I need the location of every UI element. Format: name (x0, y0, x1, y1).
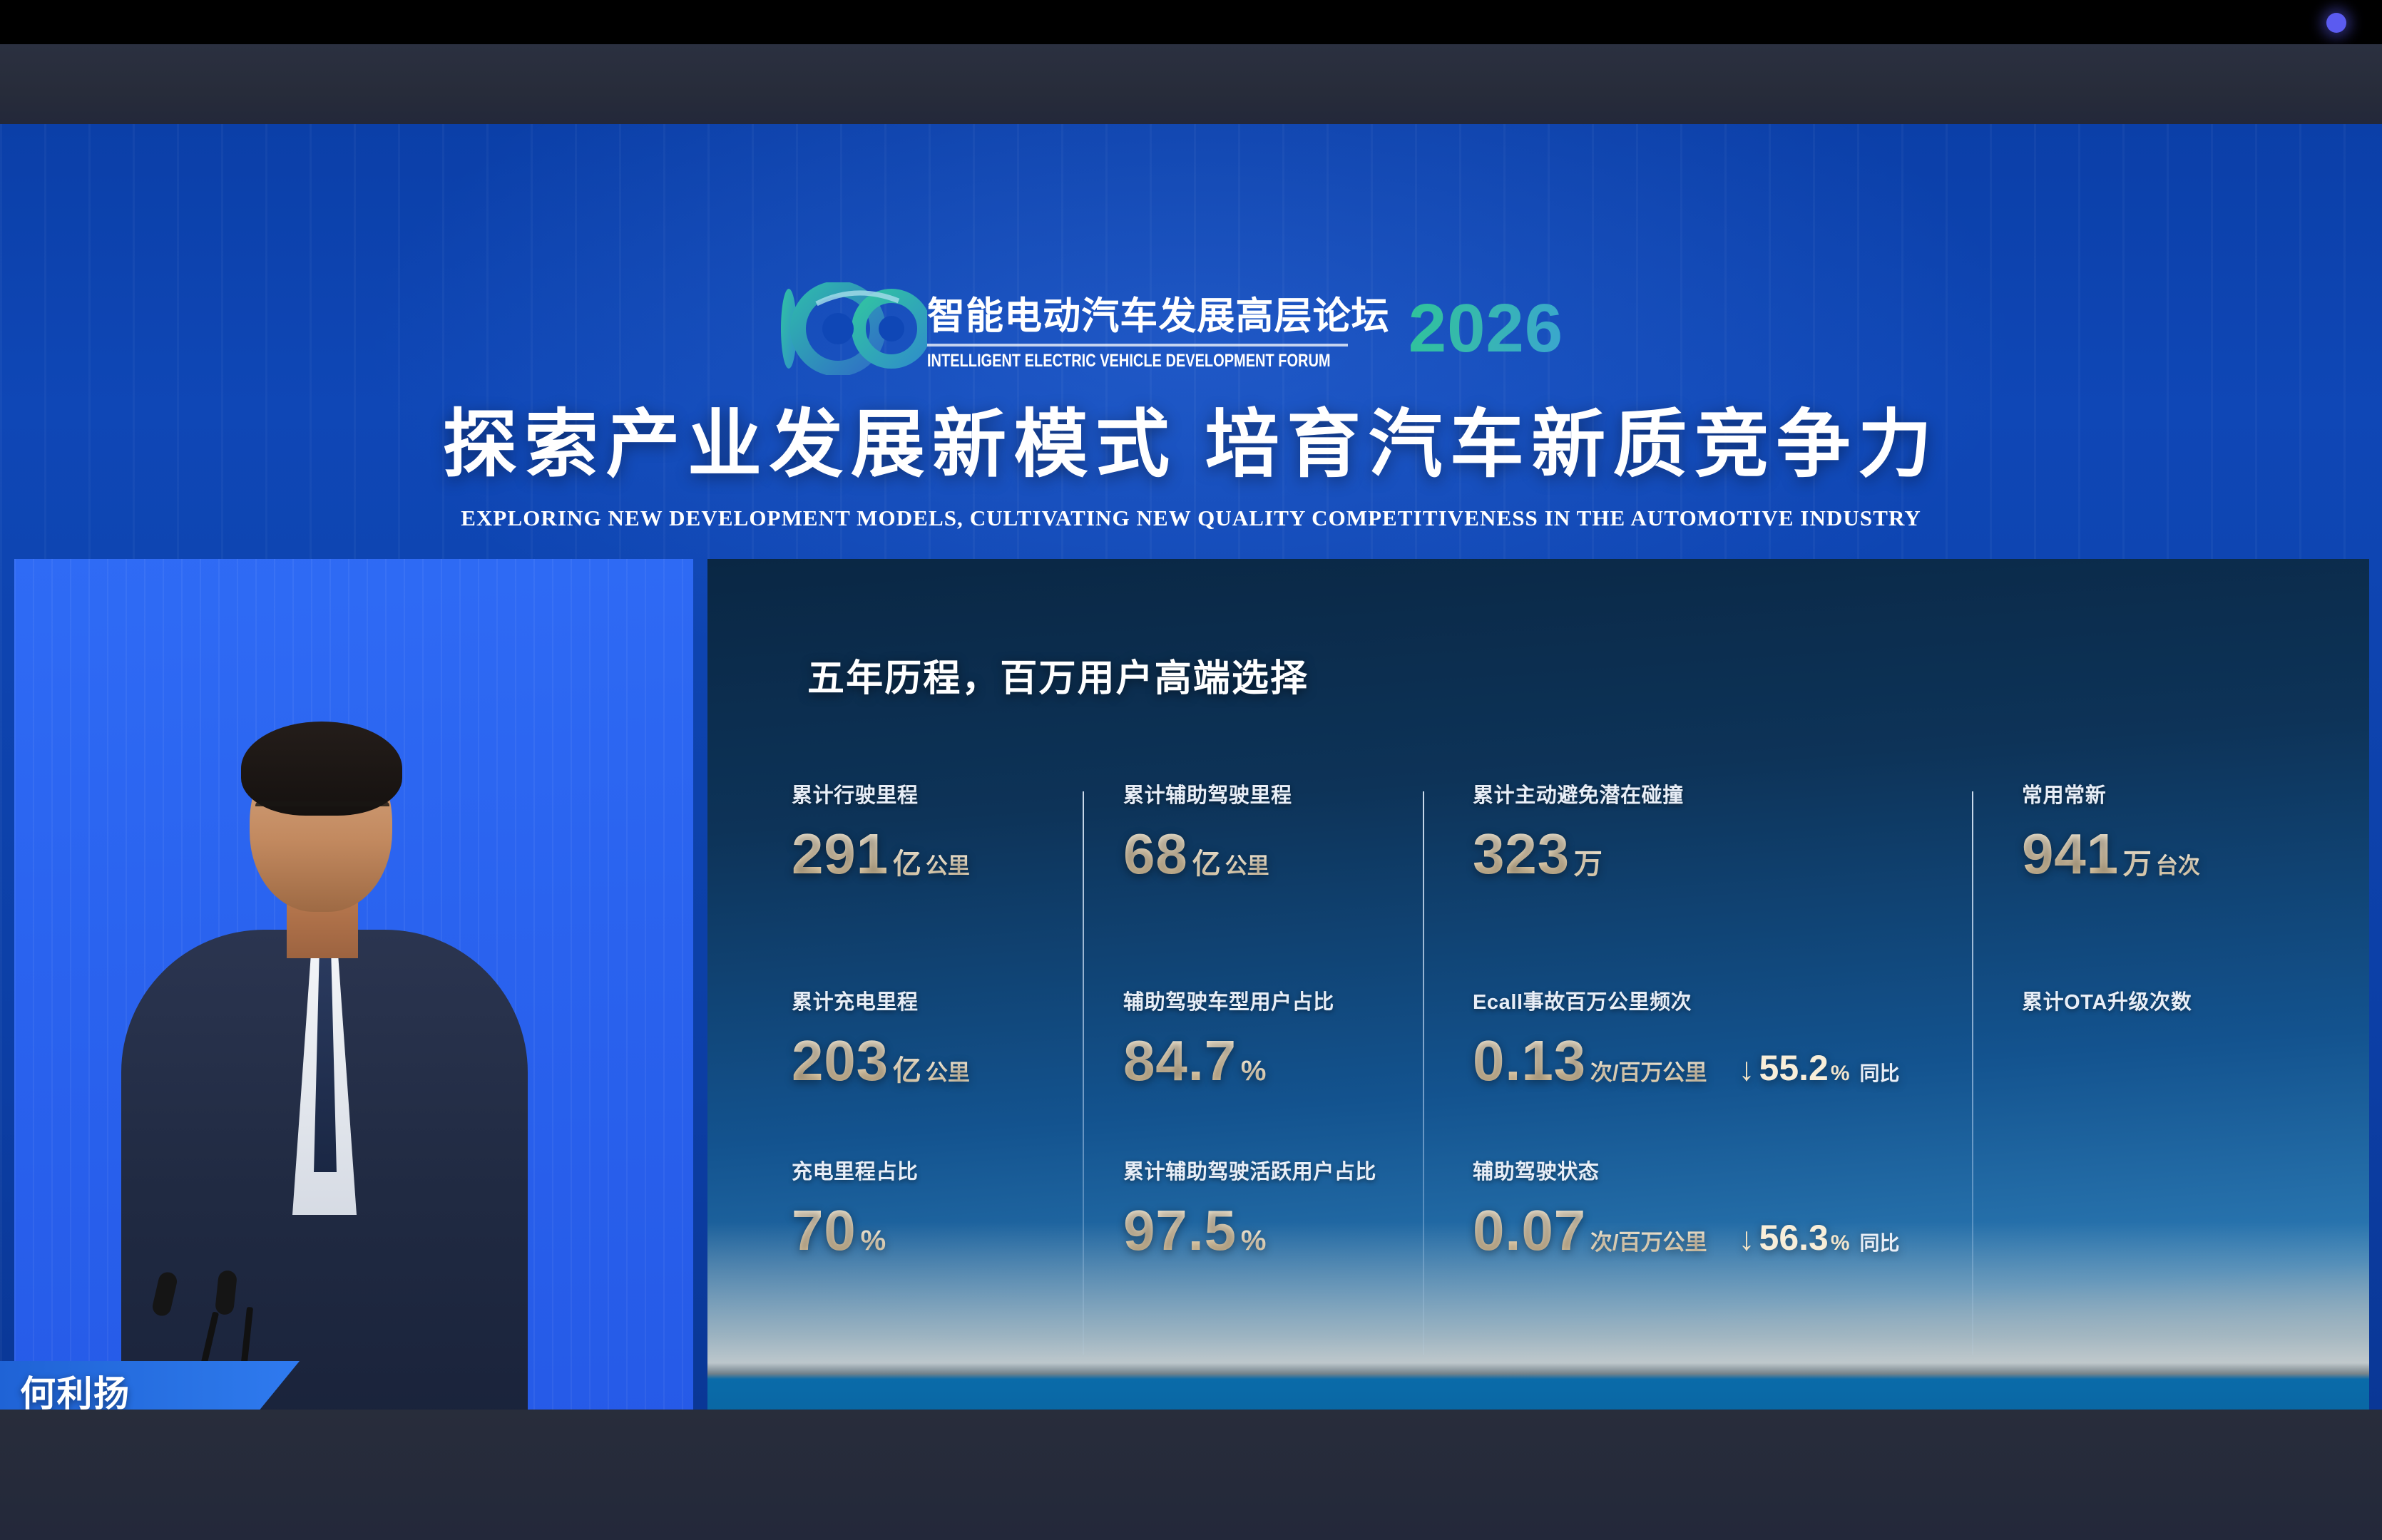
forum-100-logo-icon (777, 282, 927, 379)
metric-item: 辅助驾驶车型用户占比 84.7 % (1123, 985, 1334, 1089)
metric-unit-primary: 次/百万公里 (1590, 1054, 1707, 1087)
metric-delta-percent: % (1831, 1231, 1850, 1256)
metric-number: 70 (792, 1202, 857, 1259)
metric-number: 941 (2022, 826, 2119, 883)
metric-delta: ↓ 56.3 % 同比 (1739, 1220, 1900, 1256)
metric-value: 0.13 次/百万公里 ↓ 55.2 % 同比 (1473, 1032, 1900, 1089)
metric-unit-primary: 次/百万公里 (1590, 1224, 1707, 1256)
metric-label: Ecall事故百万公里频次 (1473, 985, 1900, 1015)
column-divider (1423, 791, 1424, 1355)
forum-year: 2026 (1409, 294, 1563, 363)
metric-item: 累计充电里程 203 亿 公里 (792, 985, 970, 1089)
metric-column-3: 累计主动避免潜在碰撞 323 万 Ecall事故百万公里频次 0.13 次/百万… (1473, 779, 2022, 1392)
metric-unit-primary: % (861, 1225, 886, 1257)
metric-unit-secondary: 台次 (2156, 848, 2200, 880)
metric-value: 291 亿 公里 (792, 826, 970, 883)
metric-item: 累计行驶里程 291 亿 公里 (792, 779, 970, 883)
metric-item: 充电里程占比 70 % (792, 1155, 918, 1259)
metric-delta-compare: 同比 (1860, 1058, 1900, 1087)
forum-name-cn: 智能电动汽车发展高层论坛 (927, 294, 1390, 339)
metric-column-1: 累计行驶里程 291 亿 公里 累计充电里程 203 亿 公里 (792, 779, 1123, 1392)
metric-item: 累计辅助驾驶活跃用户占比 97.5 % (1123, 1155, 1376, 1259)
metric-unit-primary: 亿 (1192, 841, 1221, 882)
metric-label: 充电里程占比 (792, 1155, 918, 1185)
forum-logo-text: 智能电动汽车发展高层论坛 INTELLIGENT ELECTRIC VEHICL… (927, 294, 1390, 366)
metric-column-4: 常用常新 941 万 台次 累计OTA升级次数 (2022, 779, 2304, 1392)
forum-name-en: INTELLIGENT ELECTRIC VEHICLE DEVELOPMENT… (927, 352, 1390, 370)
metric-value: 68 亿 公里 (1123, 826, 1292, 883)
metric-label: 累计主动避免潜在碰撞 (1473, 779, 1684, 808)
metric-delta-value: 55.2 (1759, 1050, 1829, 1086)
metric-delta-value: 56.3 (1759, 1220, 1829, 1256)
metric-item: 常用常新 941 万 台次 (2022, 779, 2200, 883)
slide-title: 五年历程，百万用户高端选择 (807, 648, 1309, 702)
speaker-name-banner: 何利扬 (0, 1361, 300, 1410)
metric-value: 84.7 % (1123, 1032, 1334, 1089)
metric-unit-secondary: 公里 (926, 1054, 970, 1087)
metric-label: 常用常新 (2022, 779, 2200, 808)
down-arrow-icon: ↓ (1739, 1052, 1755, 1085)
metric-unit-secondary: 公里 (1225, 848, 1269, 880)
lower-ambient-band (0, 1410, 2382, 1540)
metric-label: 累计行驶里程 (792, 779, 970, 808)
metric-value: 203 亿 公里 (792, 1032, 970, 1089)
metric-number: 68 (1123, 826, 1188, 883)
metric-unit-primary: 万 (1574, 841, 1603, 882)
metric-item: 辅助驾驶状态 0.07 次/百万公里 ↓ 56.3 % 同比 (1473, 1155, 1900, 1259)
broadcast-frame: 智能电动汽车发展高层论坛 INTELLIGENT ELECTRIC VEHICL… (0, 0, 2382, 1540)
down-arrow-icon: ↓ (1739, 1222, 1755, 1255)
top-letterbox-bar (0, 0, 2382, 44)
metric-delta-compare: 同比 (1860, 1228, 1900, 1256)
metric-unit-primary: % (1241, 1055, 1267, 1087)
metrics-grid: 累计行驶里程 291 亿 公里 累计充电里程 203 亿 公里 (792, 779, 2304, 1392)
metric-column-2: 累计辅助驾驶里程 68 亿 公里 辅助驾驶车型用户占比 84.7 % (1123, 779, 1473, 1392)
metric-value: 70 % (792, 1202, 918, 1259)
forum-logo-lockup: 智能电动汽车发展高层论坛 INTELLIGENT ELECTRIC VEHICL… (777, 282, 1563, 379)
metric-value: 0.07 次/百万公里 ↓ 56.3 % 同比 (1473, 1202, 1900, 1259)
metric-delta-percent: % (1831, 1062, 1850, 1086)
event-headline-en: EXPLORING NEW DEVELOPMENT MODELS, CULTIV… (0, 505, 2382, 531)
metric-item: 累计辅助驾驶里程 68 亿 公里 (1123, 779, 1292, 883)
metric-label: 累计辅助驾驶里程 (1123, 779, 1292, 808)
metric-unit-secondary: 公里 (926, 848, 970, 880)
column-divider (1972, 791, 1973, 1355)
metric-delta: ↓ 55.2 % 同比 (1739, 1050, 1900, 1087)
metric-unit-primary: % (1241, 1225, 1267, 1257)
presentation-slide: 五年历程，百万用户高端选择 累计行驶里程 291 亿 公里 累计充电里程 (707, 559, 2369, 1410)
metric-number: 323 (1473, 826, 1570, 883)
upper-ambient-band (0, 44, 2382, 124)
recording-indicator-dot (2326, 13, 2346, 33)
column-divider (1083, 791, 1084, 1355)
metric-value: 323 万 (1473, 826, 1684, 883)
speaker-name: 何利扬 (20, 1365, 131, 1410)
metric-number: 97.5 (1123, 1202, 1237, 1259)
metric-label: 累计辅助驾驶活跃用户占比 (1123, 1155, 1376, 1185)
metric-unit-primary: 亿 (893, 841, 921, 882)
metric-unit-primary: 万 (2123, 841, 2152, 882)
stage-backdrop: 智能电动汽车发展高层论坛 INTELLIGENT ELECTRIC VEHICL… (0, 124, 2382, 1410)
metric-number: 0.13 (1473, 1032, 1586, 1089)
metric-label: 辅助驾驶车型用户占比 (1123, 985, 1334, 1015)
forum-logo-divider (927, 344, 1348, 346)
metric-number: 84.7 (1123, 1032, 1237, 1089)
speaker-video-panel: 智能电动汽车发展高层论坛 INTELLIGENT ELECTRIC VEHICL… (14, 559, 693, 1410)
metric-value: 941 万 台次 (2022, 826, 2200, 883)
metric-unit-primary: 亿 (893, 1047, 921, 1089)
metric-label: 累计充电里程 (792, 985, 970, 1015)
metric-item: 累计OTA升级次数 (2022, 985, 2192, 1015)
metric-value: 97.5 % (1123, 1202, 1376, 1259)
metric-label: 累计OTA升级次数 (2022, 985, 2192, 1015)
metric-number: 0.07 (1473, 1202, 1586, 1259)
metric-number: 291 (792, 826, 889, 883)
glasses-icon (255, 801, 389, 830)
metric-item: 累计主动避免潜在碰撞 323 万 (1473, 779, 1684, 883)
metric-label: 辅助驾驶状态 (1473, 1155, 1900, 1185)
metric-item: Ecall事故百万公里频次 0.13 次/百万公里 ↓ 55.2 % 同比 (1473, 985, 1900, 1089)
metric-number: 203 (792, 1032, 889, 1089)
event-headline-cn: 探索产业发展新模式 培育汽车新质竞争力 (0, 404, 2382, 486)
